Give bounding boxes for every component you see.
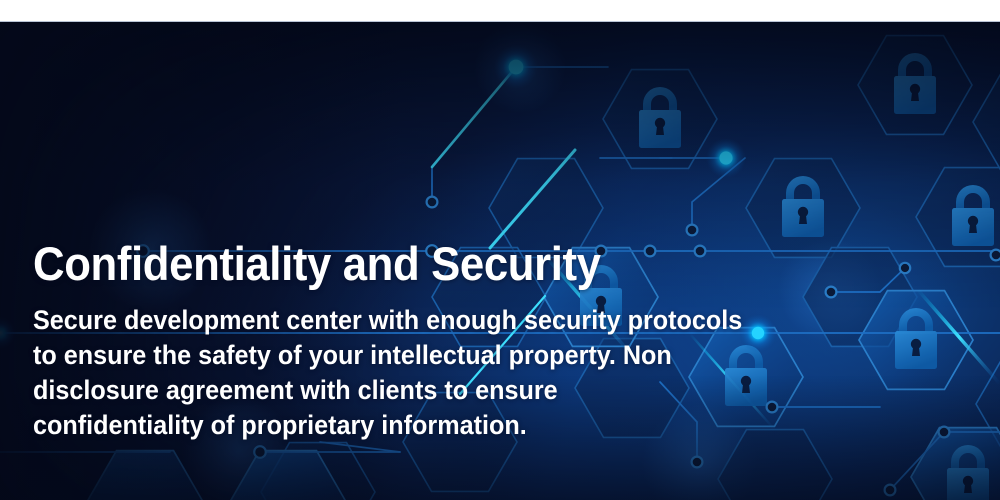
confidentiality-security-banner: Confidentiality and Security Secure deve… <box>0 0 1000 500</box>
top-white-strip <box>0 0 1000 22</box>
banner-description: Secure development center with enough se… <box>33 303 888 443</box>
description-line: disclosure agreement with clients to ens… <box>33 373 888 408</box>
description-line: confidentiality of proprietary informati… <box>33 408 888 443</box>
top-strip-divider <box>0 21 1000 22</box>
banner-copy: Confidentiality and Security Secure deve… <box>33 236 933 443</box>
page-title: Confidentiality and Security <box>33 236 870 292</box>
description-line: to ensure the safety of your intellectua… <box>33 338 888 373</box>
description-line: Secure development center with enough se… <box>33 303 888 338</box>
